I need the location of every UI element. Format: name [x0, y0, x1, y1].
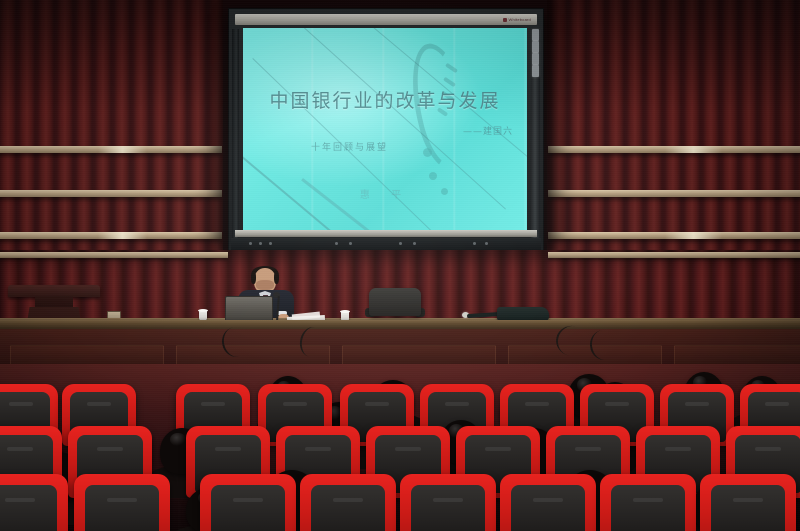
- seat-handle-notch: [755, 447, 781, 451]
- auditorium-seat[interactable]: [74, 474, 170, 531]
- seat-handle-notch: [365, 402, 388, 406]
- auditorium-seat[interactable]: [0, 474, 68, 531]
- seat-handle-notch: [395, 447, 421, 451]
- auditorium-seat[interactable]: [400, 474, 496, 531]
- seat-cushion: [311, 485, 386, 531]
- seat-handle-notch: [97, 447, 123, 451]
- seat-cushion: [411, 485, 486, 531]
- seat-cushion: [0, 485, 57, 531]
- seat-handle-notch: [7, 447, 33, 451]
- seat-handle-notch: [533, 498, 563, 502]
- seat-cushion: [511, 485, 586, 531]
- seat-handle-notch: [665, 447, 691, 451]
- auditorium-seat[interactable]: [500, 474, 596, 531]
- seat-handle-notch: [525, 402, 548, 406]
- seat-handle-notch: [215, 447, 241, 451]
- seat-handle-notch: [9, 402, 32, 406]
- seat-handle-notch: [305, 447, 331, 451]
- seat-handle-notch: [765, 402, 788, 406]
- seat-handle-notch: [433, 498, 463, 502]
- seat-cushion: [85, 485, 160, 531]
- seat-cushion: [211, 485, 286, 531]
- seat-handle-notch: [233, 498, 263, 502]
- seat-handle-notch: [333, 498, 363, 502]
- seat-handle-notch: [633, 498, 663, 502]
- seat-handle-notch: [201, 402, 224, 406]
- seat-handle-notch: [87, 402, 110, 406]
- lecture-hall-photo: Whiteboard: [0, 0, 800, 531]
- seat-cushion: [711, 485, 786, 531]
- seat-handle-notch: [575, 447, 601, 451]
- seat-handle-notch: [733, 498, 763, 502]
- auditorium-seat[interactable]: [700, 474, 796, 531]
- seat-handle-notch: [485, 447, 511, 451]
- seat-handle-notch: [605, 402, 628, 406]
- seat-handle-notch: [283, 402, 306, 406]
- seat-handle-notch: [445, 402, 468, 406]
- seat-cushion: [611, 485, 686, 531]
- seat-handle-notch: [685, 402, 708, 406]
- auditorium-seat[interactable]: [300, 474, 396, 531]
- auditorium-seat[interactable]: [200, 474, 296, 531]
- seat-handle-notch: [107, 498, 137, 502]
- seat-handle-notch: [5, 498, 35, 502]
- auditorium-seat[interactable]: [600, 474, 696, 531]
